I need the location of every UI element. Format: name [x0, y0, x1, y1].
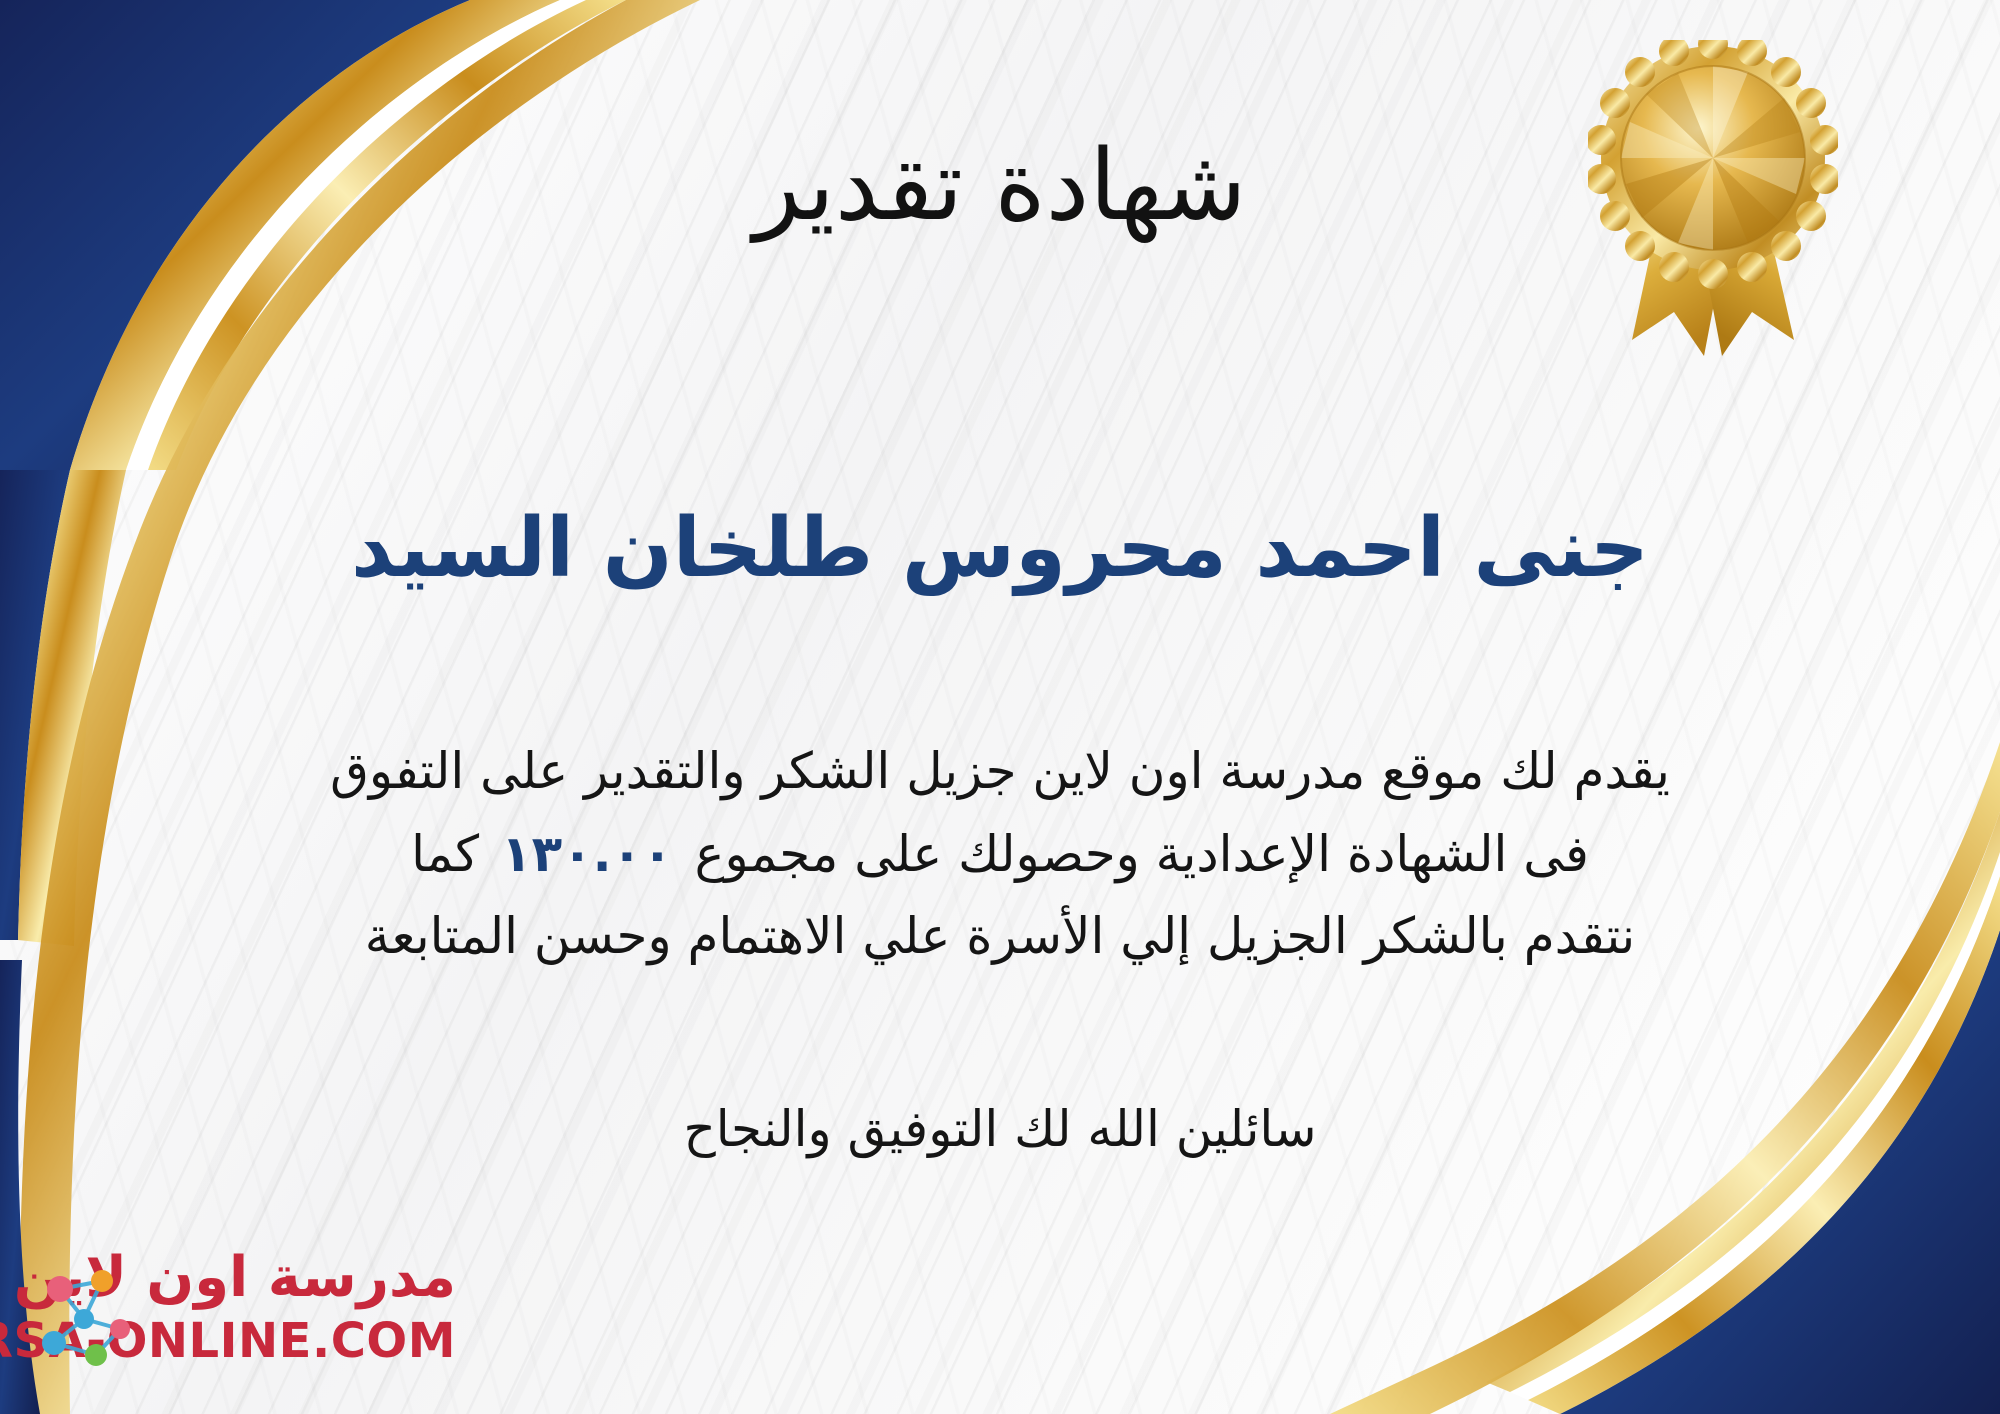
body-line-2: فى الشهادة الإعدادية وحصولك على مجموع١٣٠…: [70, 813, 1930, 896]
body-line-2-prefix: فى الشهادة الإعدادية وحصولك على مجموع: [695, 825, 1589, 883]
certificate-content: شهادة تقدير جنى احمد محروس طلخان السيد ي…: [0, 0, 2000, 1414]
network-nodes-icon: [24, 1255, 144, 1375]
body-line-3: نتقدم بالشكر الجزيل إلي الأسرة علي الاهت…: [70, 895, 1930, 978]
recipient-name: جنى احمد محروس طلخان السيد: [0, 500, 2000, 598]
body-line-2-suffix: كما: [411, 825, 479, 883]
body-line-1: يقدم لك موقع مدرسة اون لاين جزيل الشكر و…: [70, 730, 1930, 813]
closing-line: سائلين الله لك التوفيق والنجاح: [0, 1100, 2000, 1158]
certificate-page: شهادة تقدير جنى احمد محروس طلخان السيد ي…: [0, 0, 2000, 1414]
certificate-title: شهادة تقدير: [0, 130, 2000, 243]
grade-value: ١٣٠.٠٠: [479, 825, 695, 883]
certificate-body: يقدم لك موقع مدرسة اون لاين جزيل الشكر و…: [70, 730, 1930, 978]
site-logo[interactable]: مدرسة اون لاين MADRSA-ONLINE.COM: [24, 1245, 494, 1385]
